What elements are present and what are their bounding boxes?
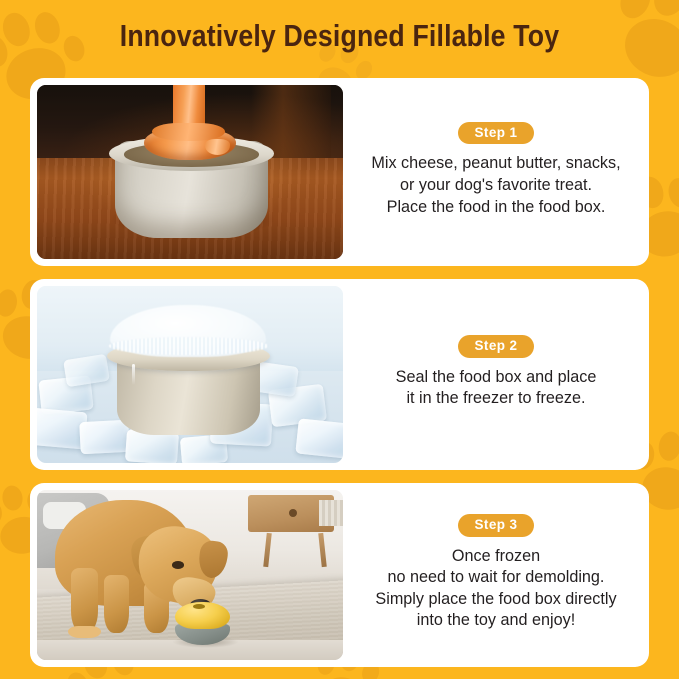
step-2-image — [37, 286, 343, 463]
promo-poster: Innovatively Designed Fillable Toy Step … — [0, 0, 679, 679]
page-title-bar: Innovatively Designed Fillable Toy — [0, 0, 679, 72]
step-1-text-block: Step 1 Mix cheese, peanut butter, snacks… — [343, 78, 649, 266]
step-3-text-block: Step 3 Once frozen no need to wait for d… — [343, 483, 649, 667]
step-1-description: Mix cheese, peanut butter, snacks, or yo… — [371, 153, 620, 218]
step-3-description: Once frozen no need to wait for demoldin… — [375, 546, 616, 632]
step-3-badge: Step 3 — [458, 514, 535, 537]
step-1-image — [37, 85, 343, 259]
step-2-text-block: Step 2 Seal the food box and place it in… — [343, 279, 649, 470]
step-card-3: Step 3 Once frozen no need to wait for d… — [30, 483, 649, 667]
steps-list: Step 1 Mix cheese, peanut butter, snacks… — [30, 78, 649, 667]
step-3-image — [37, 490, 343, 660]
step-1-badge: Step 1 — [458, 122, 535, 145]
page-title: Innovatively Designed Fillable Toy — [120, 18, 559, 54]
step-card-2: Step 2 Seal the food box and place it in… — [30, 279, 649, 470]
step-2-badge: Step 2 — [458, 335, 535, 358]
step-2-description: Seal the food box and place it in the fr… — [396, 367, 597, 410]
step-card-1: Step 1 Mix cheese, peanut butter, snacks… — [30, 78, 649, 266]
